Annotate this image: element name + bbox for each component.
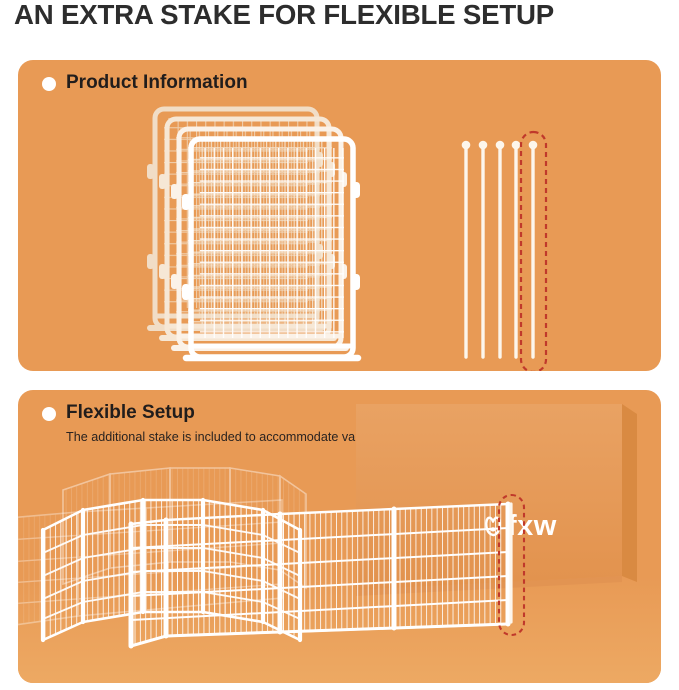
product-information-card: Product Information — [18, 60, 661, 371]
stake-1 — [462, 141, 471, 357]
flexible-setup-illustration: fxw — [18, 390, 661, 683]
wire-panel-front — [182, 139, 360, 358]
stake-4 — [512, 141, 521, 357]
stake-group — [462, 132, 546, 371]
wall-edge — [622, 404, 637, 582]
page-title: AN EXTRA STAKE FOR FLEXIBLE SETUP — [14, 0, 677, 32]
rect-panel-2 — [280, 509, 394, 632]
flexible-setup-card: Flexible Setup The additional stake is i… — [18, 390, 661, 683]
fxw-wordmark: fxw — [507, 510, 557, 542]
rect-panel-3 — [394, 504, 508, 628]
stake-3 — [496, 141, 505, 357]
stake-5-highlighted — [529, 141, 538, 357]
stake-2 — [479, 141, 488, 357]
rect-playpen-front — [131, 504, 508, 646]
product-illustration — [18, 60, 661, 371]
rect-panel-left — [131, 520, 166, 646]
